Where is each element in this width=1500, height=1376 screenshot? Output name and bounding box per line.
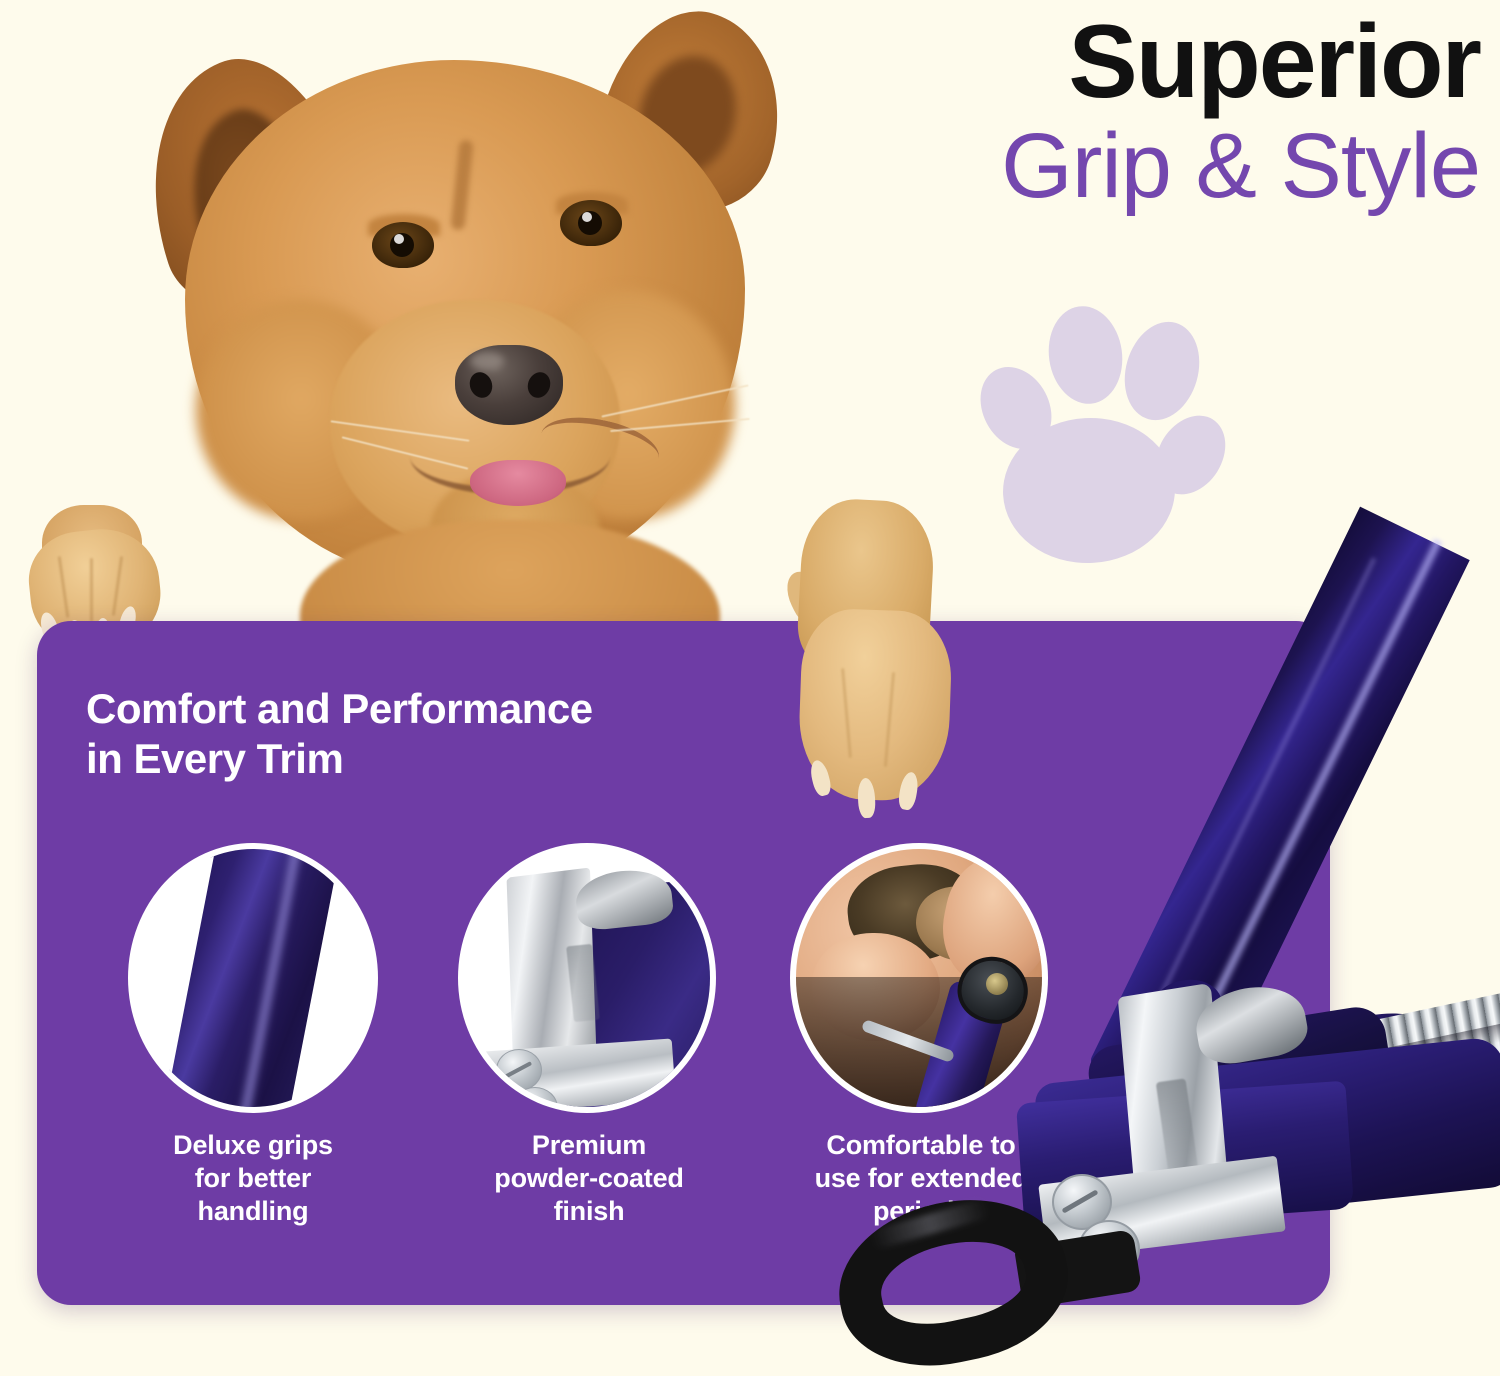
paw-toe (1043, 301, 1129, 408)
headline-block: Superior Grip & Style (830, 10, 1480, 218)
feature-caption: Deluxe grips for better handling (128, 1129, 378, 1228)
dog-nose-highlight (470, 352, 504, 370)
feature-item: Deluxe grips for better handling (128, 843, 378, 1228)
feature-item: Premium powder-coated finish (458, 843, 720, 1228)
dog-toe-separator (90, 558, 93, 622)
dog-tongue (470, 460, 566, 506)
powder-coated-finish-photo (458, 843, 716, 1113)
card-title: Comfort and Performance in Every Trim (86, 684, 593, 784)
dog-right-eye-glint (582, 212, 592, 222)
paw-toe (1114, 313, 1211, 429)
dog-nail-clipper-photo (900, 520, 1500, 1376)
headline-secondary: Grip & Style (830, 114, 1480, 218)
deluxe-grip-handle-photo (128, 843, 378, 1113)
dog-left-eye-glint (394, 234, 404, 244)
product-infographic: Superior Grip & Style Comfort and Perfor… (0, 0, 1500, 1376)
feature-caption: Premium powder-coated finish (458, 1129, 720, 1228)
headline-primary: Superior (830, 10, 1480, 114)
